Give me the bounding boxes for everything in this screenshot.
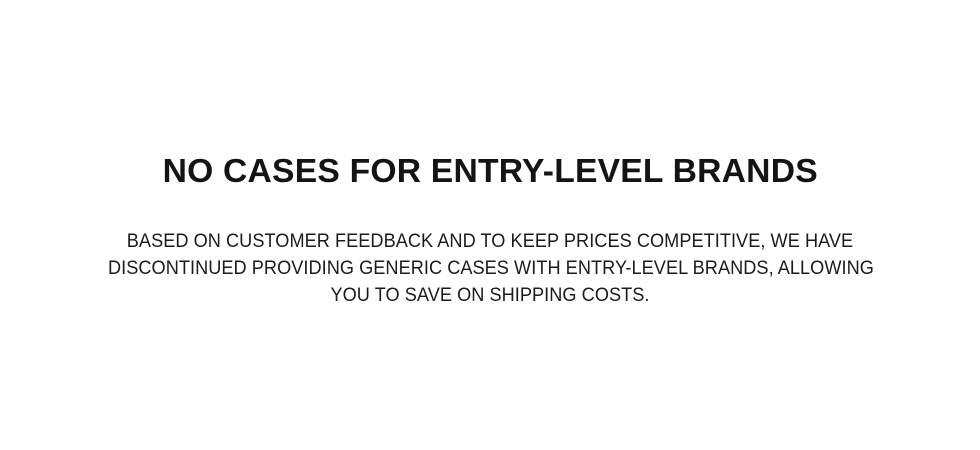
- promo-description-line: BASED ON CUSTOMER FEEDBACK AND TO KEEP P…: [108, 228, 872, 255]
- promo-description-line: DISCONTINUED PROVIDING GENERIC CASES WIT…: [108, 255, 872, 282]
- page-title: NO CASES FOR ENTRY-LEVEL BRANDS: [162, 152, 817, 190]
- promo-banner: NO CASES FOR ENTRY-LEVEL BRANDS BASED ON…: [0, 0, 980, 450]
- promo-description-line: YOU TO SAVE ON SHIPPING COSTS.: [108, 282, 872, 309]
- promo-description: BASED ON CUSTOMER FEEDBACK AND TO KEEP P…: [108, 190, 872, 309]
